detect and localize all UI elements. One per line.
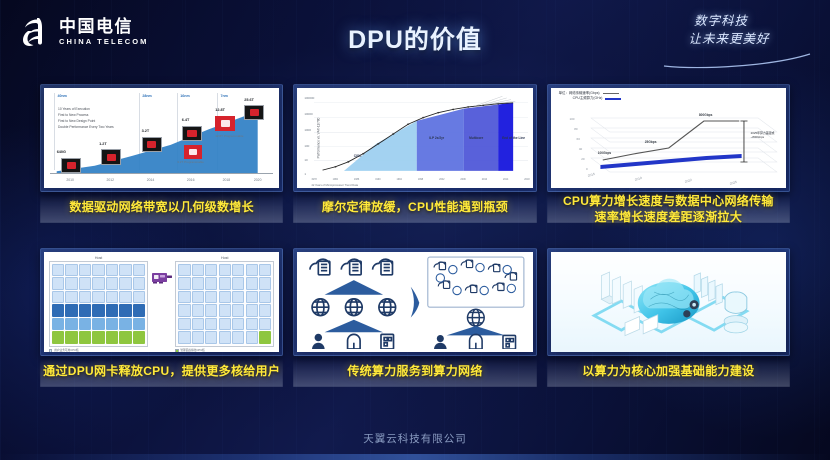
card-compute-network[interactable]: 传统算力服务到算力网络	[293, 248, 536, 404]
network-vs-cpu-growth-chart: 单位：网络传输速率(Gbps) CPU主频算力(GHz)	[551, 88, 786, 188]
thumb-frame[interactable]: Performance vs. VAX-11/780 100000 10000 …	[293, 84, 536, 192]
value-label-5: 25.6T	[244, 98, 254, 102]
y-tick-0: 1	[304, 172, 306, 176]
card-gap-widening[interactable]: 单位：网络传输速率(Gbps) CPU主频算力(GHz)	[547, 84, 790, 240]
legend-right: 管理面虚拟化CPU核 存储虚拟化CPU核	[175, 349, 274, 352]
card-caption: 以算力为核心加强基础能力建设	[547, 363, 790, 379]
document-panels	[625, 315, 658, 336]
traditional-stack-icons	[301, 255, 407, 349]
y-tick-4: 80	[574, 127, 577, 131]
core-grid-left	[52, 264, 145, 344]
legend-swatch-mgmt-cores	[175, 349, 178, 352]
roadmap-bullet-list: 10 Years of Execution First to New Proce…	[58, 106, 114, 130]
value-label-0: 640G	[57, 150, 66, 154]
x-tick: 1990	[375, 178, 380, 181]
era-label-3: ILP 2x/2yr	[429, 136, 444, 140]
brand-slogan: 数字科技 让未来更美好	[636, 12, 806, 68]
host-left-title: Host	[49, 256, 148, 260]
data-label-25g: 25Gbps	[645, 140, 657, 144]
x-tick: 2006	[460, 178, 465, 181]
card-dpu-offload[interactable]: Host	[40, 248, 283, 404]
chip-3	[182, 126, 202, 141]
x-tick: 2010	[482, 178, 487, 181]
card-caption: CPU算力增长速度与数据中心网络传输 速率增长速度差距逐渐拉大	[547, 193, 790, 225]
x-tick: 1994	[397, 178, 402, 181]
host-left: Host	[49, 256, 148, 352]
y-tick-0: 0	[586, 167, 588, 171]
x-tick-1: 2012	[107, 178, 115, 182]
dpu-nic-card-icon	[151, 270, 173, 284]
chevron-right-icon	[409, 285, 421, 319]
x-tick: 2002	[439, 178, 444, 181]
era-label-4: Multicore	[469, 136, 483, 140]
legend-row-0: 用户业务可用CPU核	[49, 349, 148, 352]
thumb-frame[interactable]: Host	[40, 248, 283, 356]
card-moores-law[interactable]: Performance vs. VAX-11/780 100000 10000 …	[293, 84, 536, 240]
card-bandwidth-growth[interactable]: 40nm 28nm 16nm 7nm 10 Years of Execution…	[40, 84, 283, 240]
y-tick-4: 10000	[304, 112, 312, 116]
card-caption: 传统算力服务到算力网络	[293, 363, 536, 379]
legend-label-mgmt-cores: 管理面虚拟化CPU核	[180, 349, 205, 352]
footer-company: 天翼云科技有限公司	[0, 431, 830, 446]
dpu-transition	[149, 256, 174, 287]
mesh-network-icons	[423, 255, 529, 349]
programmable-label-0: 3.2T Programmable	[177, 160, 203, 164]
thumb-frame[interactable]: 40nm 28nm 16nm 7nm 10 Years of Execution…	[40, 84, 283, 192]
x-tick: 1986	[354, 178, 359, 181]
cloud-server-icon	[373, 259, 393, 275]
programmable-label-1: 12.8T Programmable	[215, 134, 243, 138]
card-caption: 通过DPU网卡释放CPU，提供更多核给用户	[40, 363, 283, 379]
cloud-core-icon	[637, 279, 699, 324]
value-label-1: 1.2T	[99, 142, 107, 146]
y-tick-3: 1000	[304, 128, 311, 132]
thumb-frame[interactable]	[293, 248, 536, 356]
y-tick-5: 100	[569, 117, 574, 121]
era-label-5: End of the Line	[502, 136, 525, 140]
card-infrastructure[interactable]: 以算力为核心加强基础能力建设	[547, 248, 790, 404]
legend-left: 用户业务可用CPU核 网络等虚拟化CPU核	[49, 349, 148, 352]
globe-icon-row	[312, 299, 396, 316]
chart-caption: 42 Years of Microprocessor Trend Data	[311, 184, 530, 187]
footer-accent-bar	[0, 454, 830, 460]
x-tick: 2014	[503, 178, 508, 181]
compute-network-evolution-diagram	[297, 252, 532, 352]
slide-root: 中国电信 CHINA TELECOM DPU的价值 数字科技 让未来更美好 40…	[0, 0, 830, 460]
y-tick-2: 100	[304, 144, 309, 148]
cpu-performance-series	[314, 93, 528, 175]
arrow-up-icon	[325, 320, 383, 333]
legend-label-user-cores: 用户业务可用CPU核	[54, 349, 79, 352]
value-label-3: 6.4T	[182, 118, 190, 122]
evolution-arrow	[409, 285, 421, 319]
x-axis-ticks: 19781982 19861990 19941998 20022006 2010…	[311, 178, 529, 181]
x-tick: 1982	[333, 178, 338, 181]
arrow-up-icon	[325, 280, 383, 295]
bullet-3: Double Performance Every Two Years	[58, 124, 114, 130]
chip-5	[244, 105, 264, 120]
x-tick-2: 2014	[147, 178, 155, 182]
host-core-allocation-diagram: Host	[44, 252, 279, 352]
legend-swatch-user-cores	[49, 349, 52, 352]
x-tick-5: 2020	[254, 178, 262, 182]
cloud-server-icon	[342, 259, 362, 275]
legend-row-0: 管理面虚拟化CPU核	[175, 349, 274, 352]
compute-network-side	[423, 255, 529, 349]
x-tick: 1978	[311, 178, 316, 181]
y-tick-3: 60	[577, 137, 580, 141]
y-tick-1: 20	[581, 157, 584, 161]
data-label-800g: 800Gbps	[699, 113, 712, 117]
chip-0	[61, 158, 81, 173]
cloud-server-icon	[310, 259, 330, 275]
card-grid: 40nm 28nm 16nm 7nm 10 Years of Execution…	[40, 84, 790, 404]
x-tick: 2018	[524, 178, 529, 181]
host-right: Host	[175, 256, 274, 352]
thumb-frame[interactable]	[547, 248, 790, 356]
x-tick: 1998	[418, 178, 423, 181]
value-label-4: 12.8T	[215, 108, 225, 112]
chip-1	[101, 149, 121, 164]
card-caption: 数据驱动网络带宽以几何级数增长	[40, 199, 283, 215]
host-right-title: Host	[175, 256, 274, 260]
card-caption-line-2: 速率增长速度差距逐渐拉大	[549, 209, 788, 225]
x-tick-4: 2018	[223, 178, 231, 182]
core-grid-right	[178, 264, 271, 344]
x-tick-3: 2016	[187, 178, 195, 182]
chip-programmable-1	[184, 145, 202, 159]
y-tick-1: 10	[304, 158, 307, 162]
card-caption: 摩尔定律放缓，CPU性能遇到瓶颈	[293, 199, 536, 215]
value-label-2: 3.2T	[142, 129, 150, 133]
era-label-0: CISC	[354, 154, 362, 158]
cloud-datacenter-illustration	[551, 252, 786, 352]
y-tick-2: 40	[579, 147, 582, 151]
card-caption-line-1: CPU算力增长速度与数据中心网络传输	[549, 193, 788, 209]
host-left-box	[49, 261, 148, 347]
x-axis	[50, 173, 273, 174]
server-racks	[601, 272, 642, 313]
traditional-compute-side	[301, 255, 407, 349]
thumb-frame[interactable]: 单位：网络传输速率(Gbps) CPU主频算力(GHz)	[547, 84, 790, 192]
slogan-line-1: 数字科技	[694, 13, 748, 28]
host-right-box	[175, 261, 274, 347]
broadcom-switch-roadmap-chart: 40nm 28nm 16nm 7nm 10 Years of Execution…	[44, 88, 279, 188]
data-label-100g: 100Gbps	[598, 151, 611, 155]
x-tick-0: 2010	[66, 178, 74, 182]
chip-2	[142, 137, 162, 152]
cloud-platform-3d-icon	[551, 252, 786, 352]
cpu-performance-history-chart: Performance vs. VAX-11/780 100000 10000 …	[297, 88, 532, 188]
chip-4	[215, 116, 235, 131]
gap-annotation: 2025年算力差距或~800Gbps	[751, 132, 783, 140]
slogan-line-2: 让未来更美好	[636, 30, 806, 48]
consumer-icon-row	[312, 334, 393, 349]
